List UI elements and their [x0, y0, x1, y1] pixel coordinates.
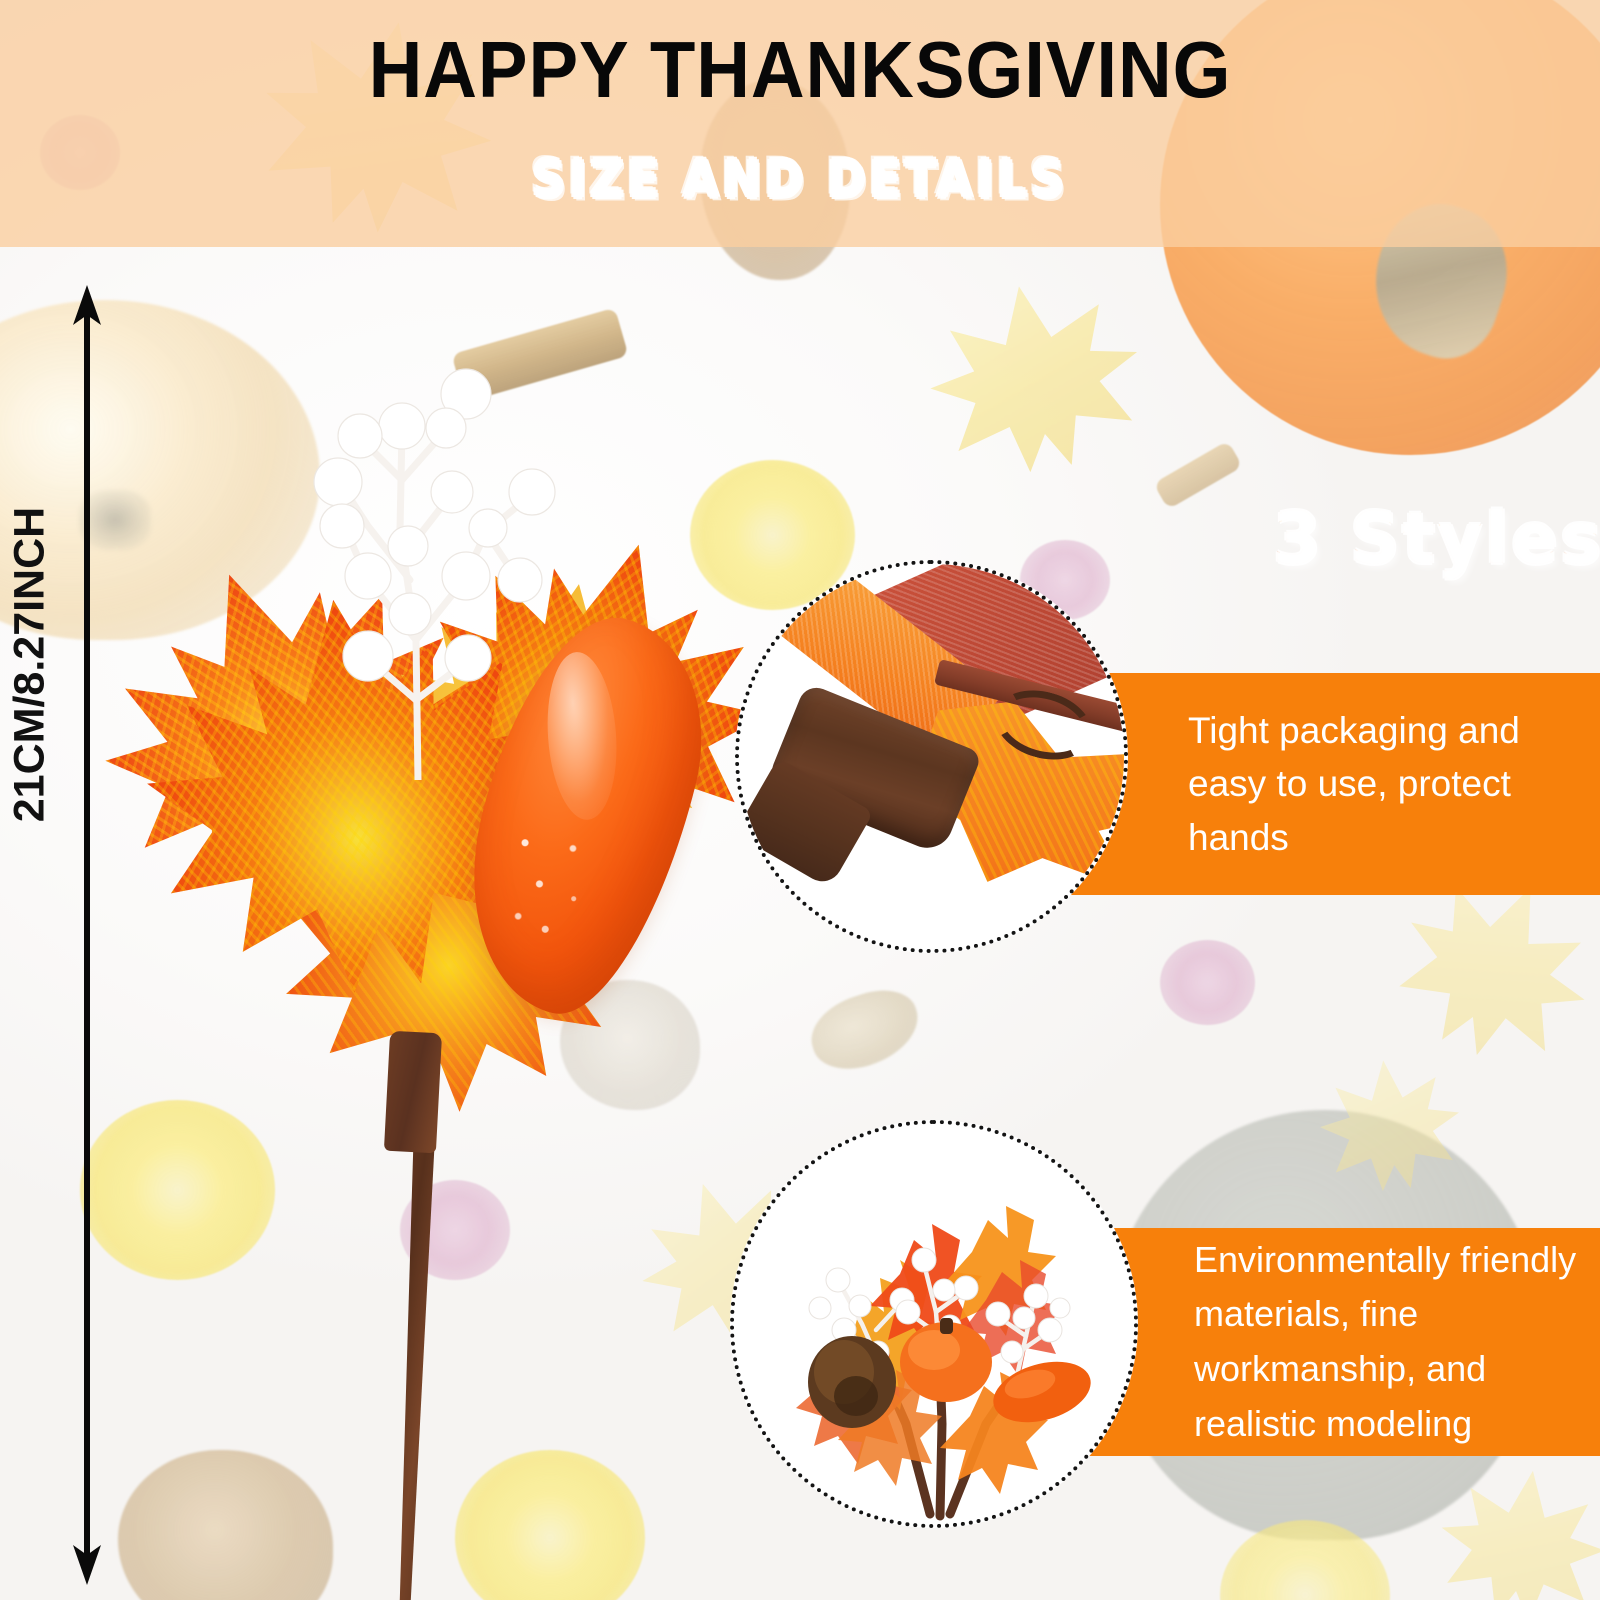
chrysanthemum-flower-prop — [1160, 940, 1255, 1025]
stem-paper-wrap — [384, 1031, 442, 1154]
dried-seed-prop — [802, 980, 928, 1081]
page-subtitle: SIZE AND DETAILS — [0, 149, 1600, 209]
detail-circle-three-styles — [730, 1120, 1138, 1528]
header-band: HAPPY THANKSGIVING SIZE AND DETAILS — [0, 0, 1600, 247]
vertical-height-arrow — [70, 285, 104, 1585]
callout-banner-packaging-text: Tight packaging and easy to use, protect… — [1060, 704, 1600, 865]
dried-maple-leaf-prop — [1430, 1459, 1600, 1600]
callout-banner-materials-text: Environmentally friendly materials, fine… — [1060, 1233, 1600, 1452]
infographic-canvas: 21CM/8.27INCH HAPPY THANKSGIVING SIZE AN… — [0, 0, 1600, 1600]
callout-banner-materials: Environmentally friendly materials, fine… — [1060, 1228, 1600, 1456]
product-photo — [95, 270, 795, 1590]
dried-maple-leaf-prop — [916, 268, 1155, 487]
cinnamon-stick-prop — [1153, 441, 1242, 510]
page-title: HAPPY THANKSGIVING — [56, 28, 1544, 112]
callout-banner-packaging: Tight packaging and easy to use, protect… — [1060, 673, 1600, 895]
detail-circle-stem-wrap — [735, 560, 1128, 953]
styles-count-badge: 3 Styles — [1273, 498, 1600, 581]
chrysanthemum-flower-prop — [1220, 1520, 1390, 1600]
dimension-label: 21CM/8.27INCH — [6, 435, 55, 895]
three-styles-bouquet-svg — [734, 1124, 1134, 1524]
dried-maple-leaf-prop — [1314, 1053, 1467, 1197]
